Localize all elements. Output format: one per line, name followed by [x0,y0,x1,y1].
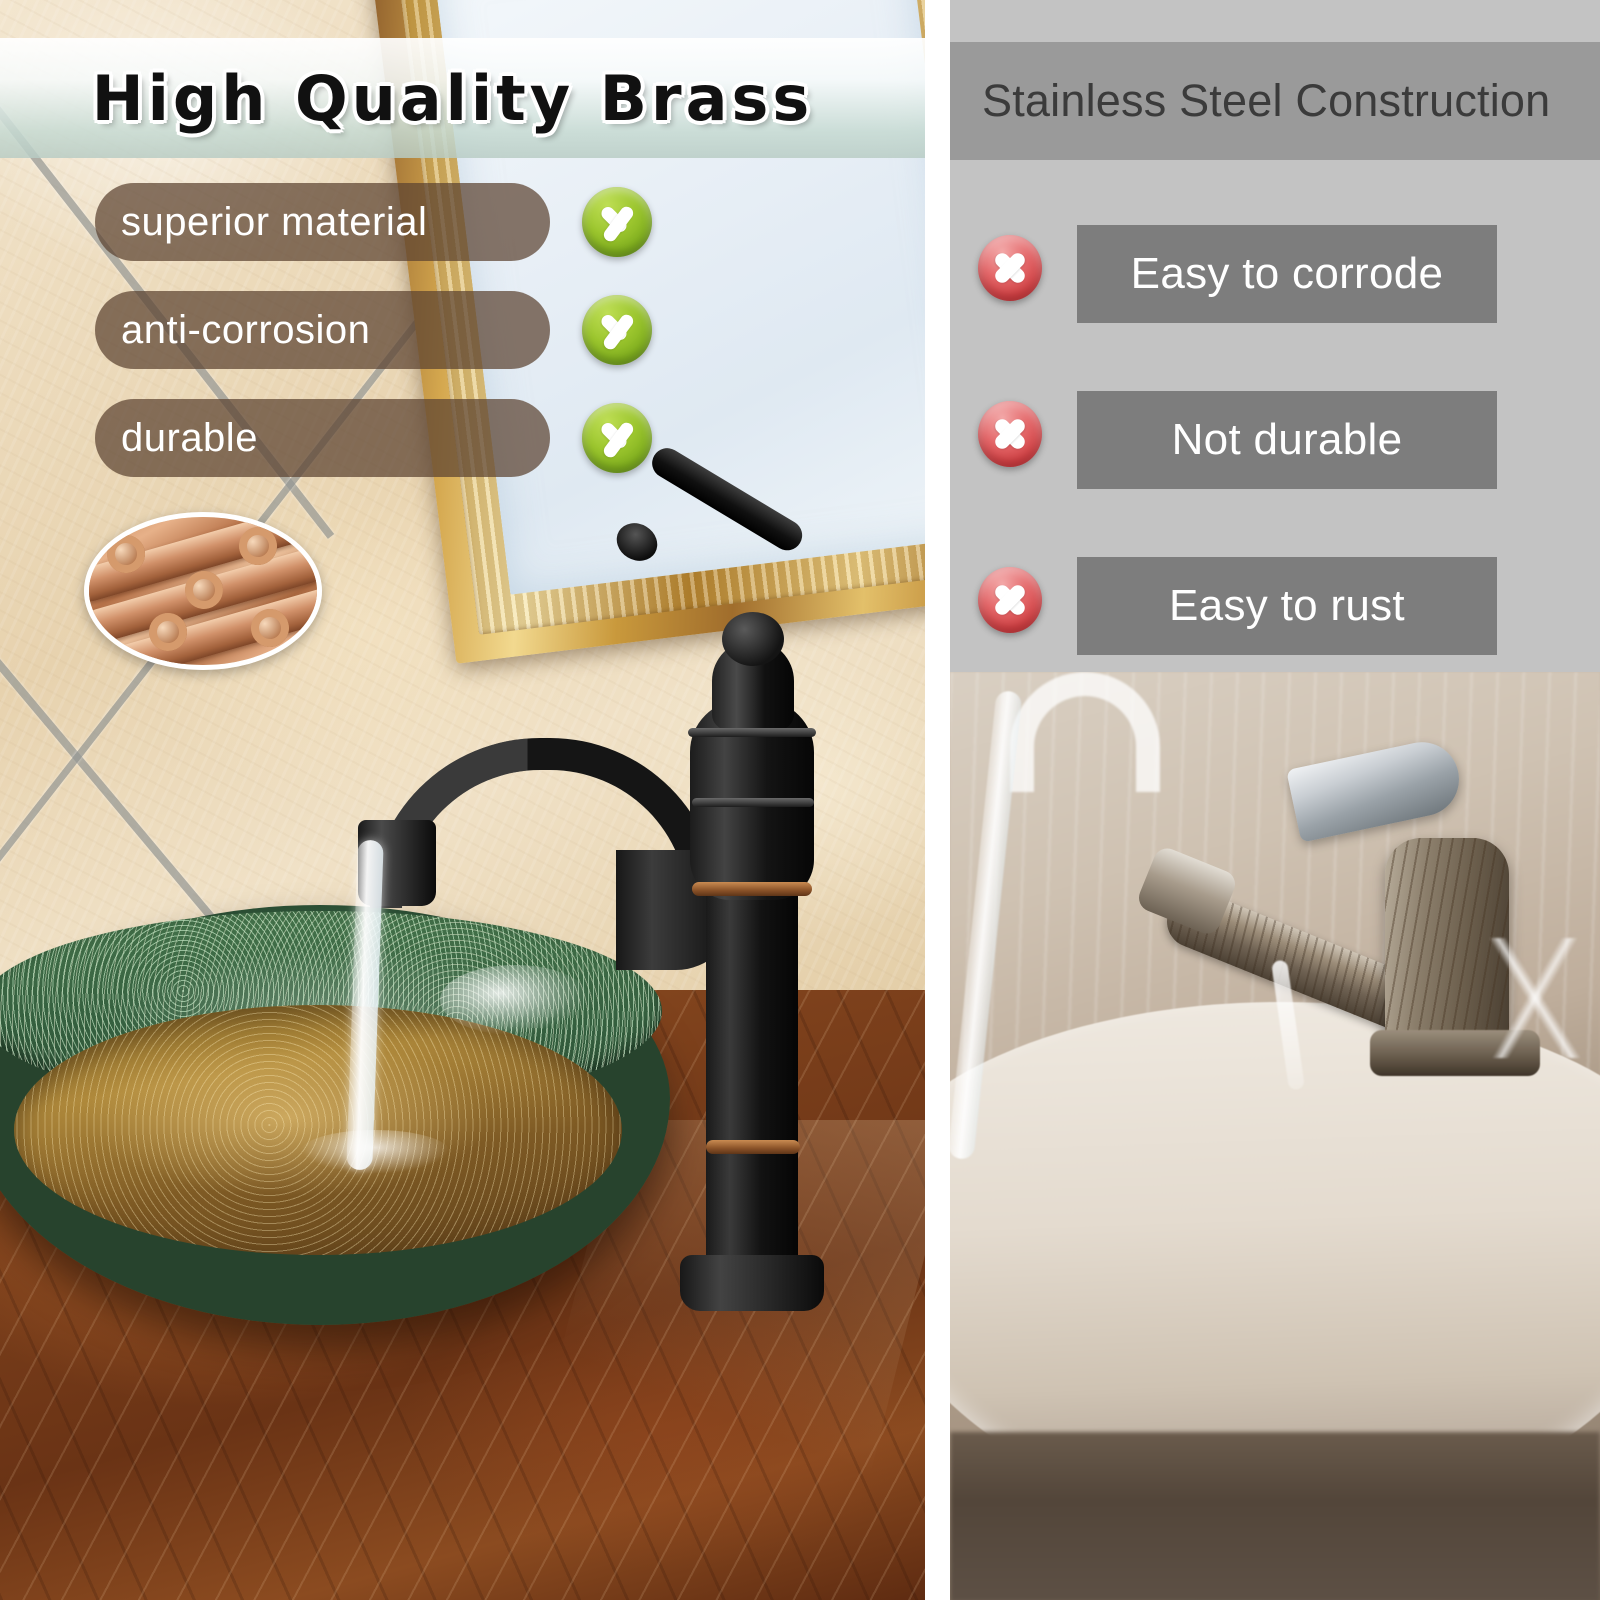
red-x-icon [978,401,1042,467]
copper-pipes-oval-inset [84,512,322,670]
faucet-handle-tip [610,516,665,568]
counter-shadow [950,1432,1600,1600]
faucet-lever-handle [1286,735,1466,842]
feature-label: superior material [95,200,427,245]
stainless-drawback-list: Easy to corrode Not durable Easy to rust [950,215,1600,713]
drawback-label: Not durable [1172,415,1403,465]
faucet-base [680,1255,824,1311]
water-splash [300,1130,450,1174]
green-check-icon [582,187,652,257]
drawback-bar[interactable]: Not durable [1077,391,1497,489]
corroded-faucet-photo [950,672,1600,1600]
water-spray [1460,938,1600,1058]
faucet-ball-joint [722,612,784,666]
drawback-label: Easy to rust [1169,581,1405,631]
feature-row: superior material [0,175,925,283]
red-x-icon [978,235,1042,301]
comparison-infographic: High Quality Brass superior material ant… [0,0,1600,1600]
red-x-icon [978,567,1042,633]
copper-pipes-image [89,517,317,665]
faucet-copper-ring [692,882,812,896]
left-panel-title: High Quality Brass [0,38,905,158]
drawback-row: Not durable [950,381,1600,547]
drawback-bar[interactable]: Easy to corrode [1077,225,1497,323]
drawback-bar[interactable]: Easy to rust [1077,557,1497,655]
feature-pill[interactable]: anti-corrosion [95,291,550,369]
drawback-label: Easy to corrode [1131,249,1444,299]
faucet-trim-ring [688,728,816,737]
right-panel-stainless: Stainless Steel Construction Easy to cor… [950,0,1600,1600]
corroded-faucet [1160,730,1580,1150]
brass-faucet [330,520,850,1330]
feature-pill[interactable]: superior material [95,183,550,261]
drawback-row: Easy to corrode [950,215,1600,381]
feature-pill[interactable]: durable [95,399,550,477]
feature-row: anti-corrosion [0,283,925,391]
panel-divider [925,0,950,1600]
brass-feature-list: superior material anti-corrosion durable [0,175,925,499]
feature-row: durable [0,391,925,499]
left-panel-brass: High Quality Brass superior material ant… [0,0,925,1600]
green-check-icon [582,403,652,473]
green-check-icon [582,295,652,365]
right-panel-title: Stainless Steel Construction [950,42,1600,160]
feature-label: durable [95,416,258,461]
faucet-trim-ring [692,798,814,807]
faucet-copper-ring [706,1140,800,1154]
feature-label: anti-corrosion [95,308,370,353]
